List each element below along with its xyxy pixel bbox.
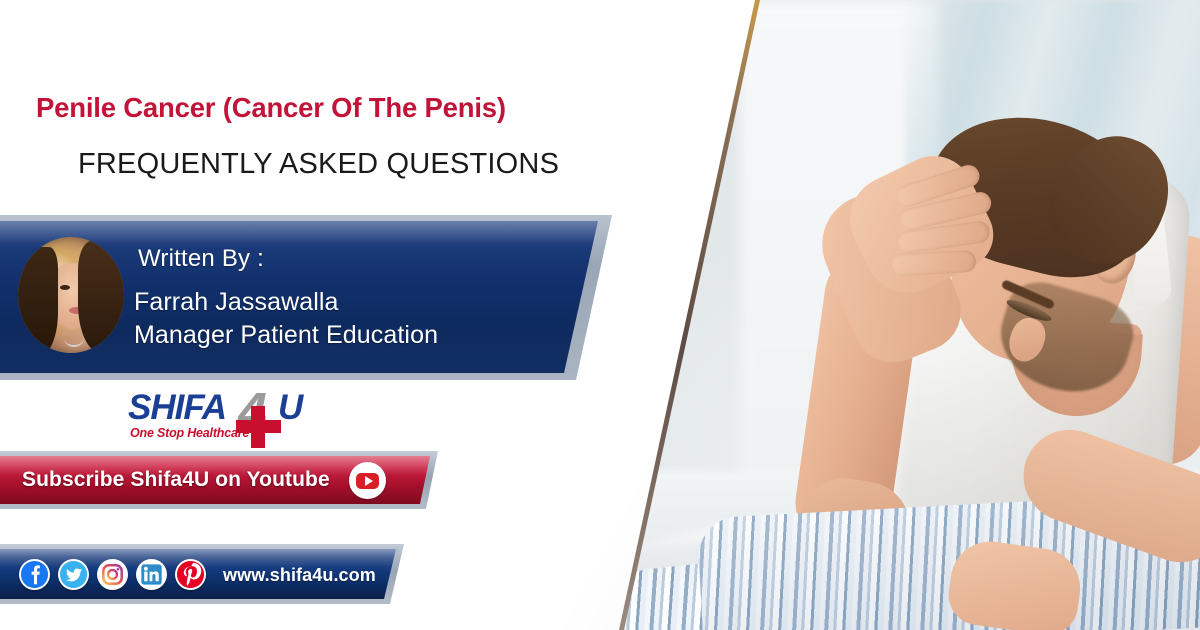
- avatar-eye-left: [60, 285, 70, 290]
- pinterest-glyph: [175, 559, 206, 590]
- twitter-icon[interactable]: [58, 559, 89, 590]
- linkedin-glyph: [136, 559, 167, 590]
- pinterest-icon[interactable]: [175, 559, 206, 590]
- instagram-icon[interactable]: [97, 559, 128, 590]
- logo-wordmark-shifa: SHIFA: [128, 390, 226, 425]
- avatar-hair-left: [18, 247, 58, 353]
- author-name: Farrah Jassawalla: [134, 288, 339, 317]
- youtube-icon-body: [356, 473, 379, 489]
- facebook-icon[interactable]: [19, 559, 50, 590]
- page-subtitle: FREQUENTLY ASKED QUESTIONS: [78, 148, 718, 181]
- author-role: Manager Patient Education: [134, 321, 438, 350]
- twitter-glyph: [58, 559, 89, 590]
- logo-wordmark-u: U: [278, 390, 303, 425]
- finger: [891, 250, 976, 276]
- avatar-hair-right: [78, 241, 124, 353]
- facebook-glyph: [19, 559, 50, 590]
- page-title: Penile Cancer (Cancer Of The Penis): [36, 92, 636, 124]
- avatar: [18, 237, 124, 353]
- youtube-play-triangle: [365, 476, 373, 486]
- shifa4u-logo[interactable]: 4 SHIFA U One Stop Healthcare: [128, 388, 328, 446]
- youtube-icon[interactable]: [349, 462, 386, 499]
- avatar-necklace: [64, 329, 84, 347]
- infographic-canvas: Penile Cancer (Cancer Of The Penis) FREQ…: [0, 0, 1200, 630]
- linkedin-icon[interactable]: [136, 559, 167, 590]
- instagram-glyph: [97, 559, 128, 590]
- subscribe-label: Subscribe Shifa4U on Youtube: [22, 468, 330, 492]
- written-by-label: Written By :: [138, 245, 264, 273]
- logo-tagline: One Stop Healthcare: [130, 426, 249, 440]
- website-url[interactable]: www.shifa4u.com: [223, 565, 376, 586]
